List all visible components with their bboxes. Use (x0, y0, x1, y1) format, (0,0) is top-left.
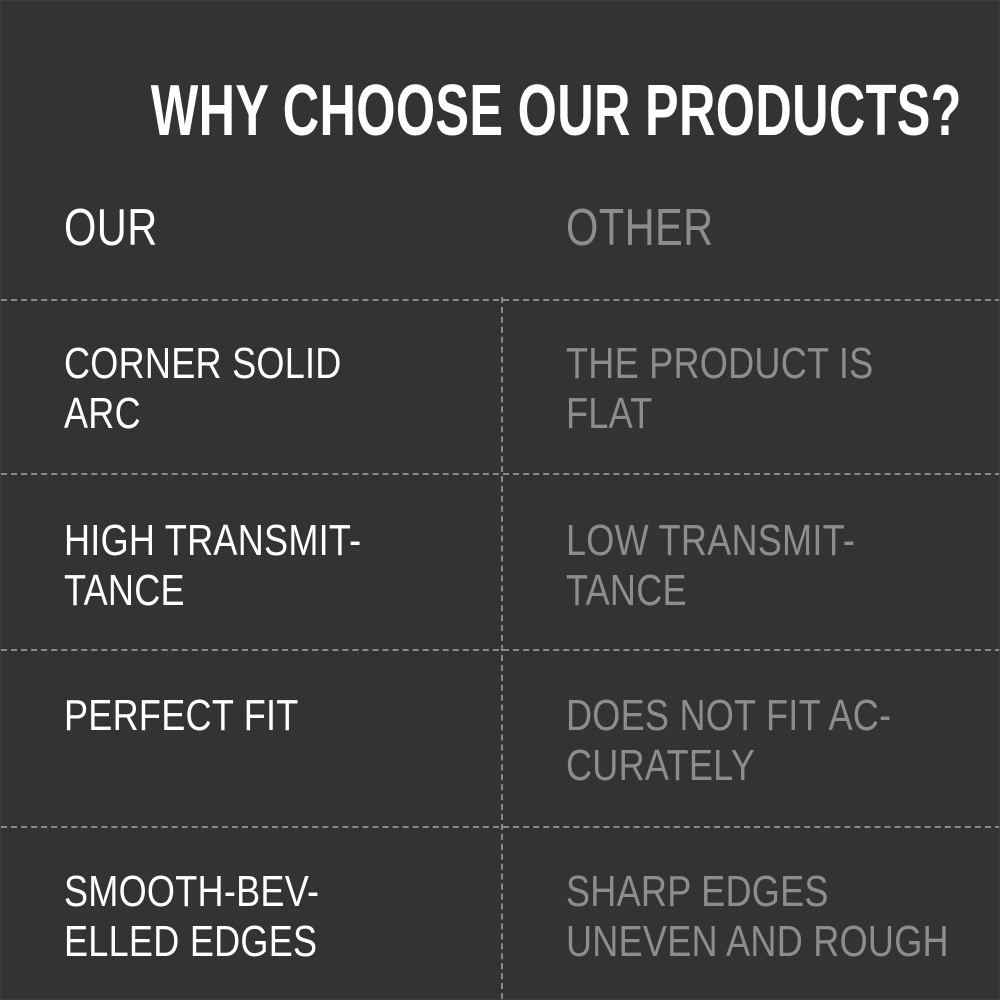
page-title: WHY CHOOSE OUR PRODUCTS? (151, 75, 850, 147)
column-header-other: OTHER (566, 197, 714, 259)
column-header-row: OUR OTHER (1, 197, 1000, 267)
row-3-our-value: PERFECT FIT (64, 691, 523, 741)
row-2-other-value: LOW TRANSMIT- TANCE (566, 516, 1000, 616)
row-4-other-value: SHARP EDGES UNEVEN AND ROUGH (566, 867, 1000, 967)
row-3-other-value: DOES NOT FIT AC- CURATELY (566, 691, 1000, 791)
column-header-our: OUR (64, 197, 158, 259)
comparison-infographic: WHY CHOOSE OUR PRODUCTS? OUR OTHER CORNE… (0, 0, 1000, 1000)
row-1-other-value: THE PRODUCT IS FLAT (566, 339, 1000, 439)
row-1-our-value: CORNER SOLID ARC (64, 339, 523, 439)
row-4-our-value: SMOOTH-BEV- ELLED EDGES (64, 867, 523, 967)
row-2-our-value: HIGH TRANSMIT- TANCE (64, 516, 523, 616)
